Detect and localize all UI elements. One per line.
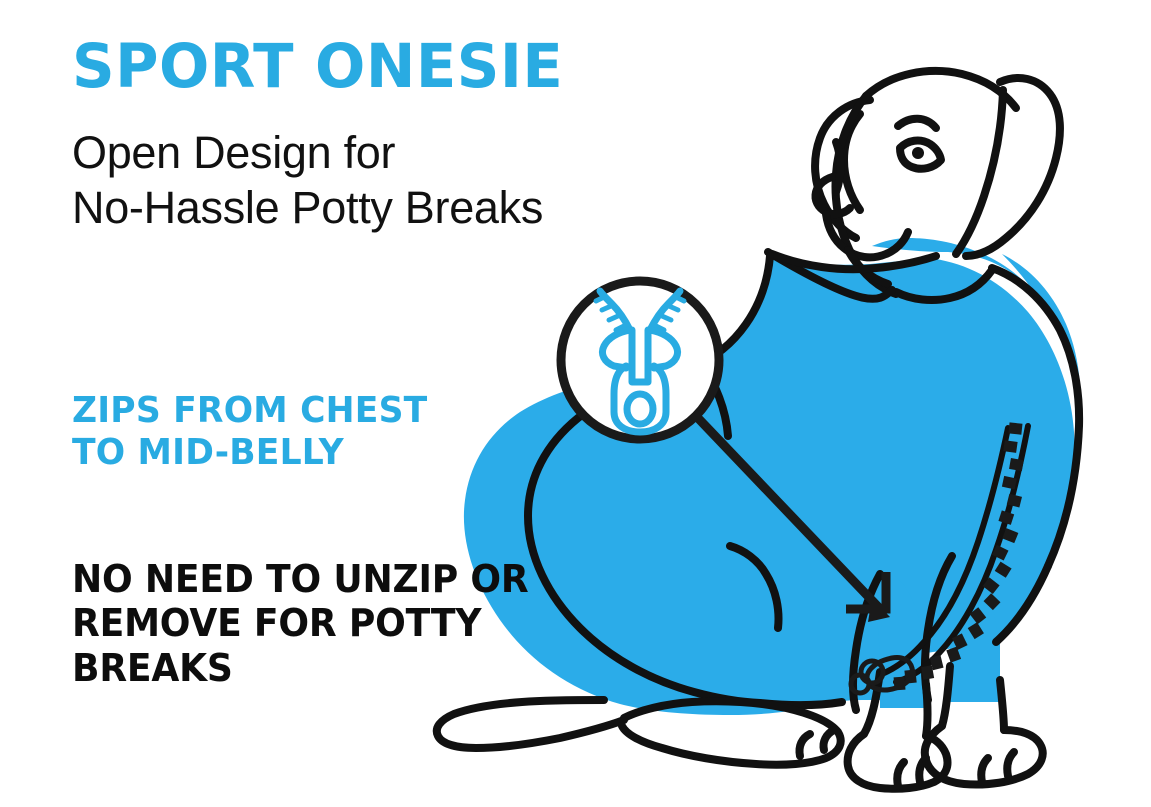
text-column: SPORT ONESIE Open Design for No-Hassle P… xyxy=(72,0,672,807)
zipper-slider xyxy=(851,657,912,693)
feature-heading: ZIPS FROM CHEST TO MID-BELLY xyxy=(72,390,427,474)
callout-arrow xyxy=(697,417,890,622)
feature-body-text: NO NEED TO UNZIP OR REMOVE FOR POTTY BRE… xyxy=(72,557,528,690)
side-zipper-track xyxy=(851,422,1028,693)
zipper-teeth xyxy=(894,422,1024,690)
page-title: SPORT ONESIE xyxy=(72,36,563,97)
infographic-canvas: SPORT ONESIE Open Design for No-Hassle P… xyxy=(0,0,1151,807)
dog-head xyxy=(815,71,1060,300)
front-legs-and-paws xyxy=(848,666,1043,789)
page-subtitle: Open Design for No-Hassle Potty Breaks xyxy=(72,126,543,236)
